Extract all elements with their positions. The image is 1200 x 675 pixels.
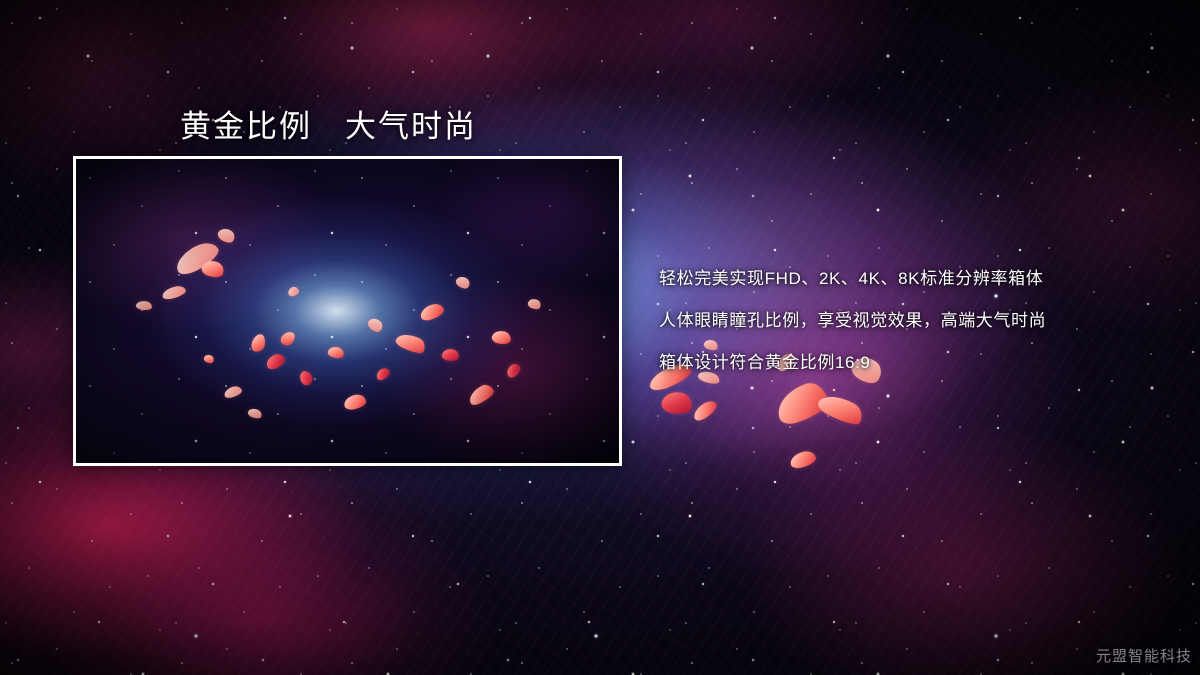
slide-title: 黄金比例 大气时尚 (180, 101, 477, 146)
body-line-1: 轻松完美实现FHD、2K、4K、8K标准分辨率箱体 (659, 258, 1159, 300)
presentation-slide: 黄金比例 大气时尚 轻松完美实现FHD、2K、4K、8K标准分辨率箱体 人体眼睛… (0, 0, 1200, 675)
brand-watermark: 元盟智能科技 (1096, 645, 1192, 666)
body-line-3: 箱体设计符合黄金比例16:9 (659, 342, 1159, 384)
petal (789, 449, 818, 470)
body-line-2: 人体眼睛瞳孔比例，享受视觉效果，高端大气时尚 (659, 300, 1159, 342)
slide-body-copy: 轻松完美实现FHD、2K、4K、8K标准分辨率箱体 人体眼睛瞳孔比例，享受视觉效… (659, 258, 1159, 384)
petal (772, 379, 832, 427)
petal (691, 398, 720, 423)
framed-image (73, 156, 622, 466)
petal (816, 388, 867, 429)
petal (660, 389, 694, 417)
framed-image-vignette (76, 159, 619, 463)
